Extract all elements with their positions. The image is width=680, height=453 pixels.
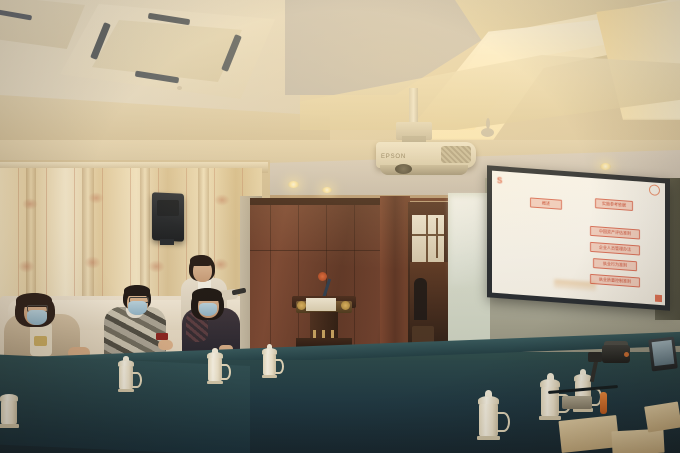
- teacup-base: [118, 389, 134, 392]
- ceiling-downlight-icon: [322, 187, 332, 193]
- podium-trim-ornament: [341, 301, 350, 310]
- slide-badge-icon: [649, 184, 660, 196]
- teacup-base: [539, 416, 561, 420]
- projector-lens-icon: [395, 164, 412, 174]
- curtain-motif: [88, 192, 104, 204]
- teacup-body: [1, 401, 17, 425]
- document-sheet: [558, 415, 619, 453]
- ceiling-sprinkler-stem: [486, 118, 490, 129]
- ceiling-sprinkler-icon: [481, 128, 494, 137]
- podium-name-card: [306, 298, 336, 311]
- teacup-handle: [275, 359, 284, 374]
- podium-trim-ornament: [297, 301, 306, 310]
- teacup-handle: [132, 372, 142, 388]
- projector-brand-label: EPSON: [381, 154, 427, 160]
- ac-sensor-dot: [177, 86, 182, 90]
- attendee-left-shirt-print: [34, 336, 47, 346]
- teacup-base: [207, 381, 223, 384]
- teacup-handle: [497, 412, 510, 432]
- field-monitor-screen[interactable]: [652, 340, 675, 366]
- attendee-left-face-mask: [27, 310, 47, 325]
- attendee-middle-phone-icon: [156, 333, 168, 340]
- teacup-knob: [580, 369, 586, 375]
- attendee-middle-face-mask: [128, 301, 147, 315]
- curtain-motif: [84, 256, 101, 269]
- projector-underside: [380, 165, 468, 175]
- teacup-knob: [212, 348, 218, 353]
- slide-logo-icon: S: [497, 176, 505, 186]
- curtain-motif: [18, 260, 35, 273]
- projector-mount-pole: [409, 88, 418, 126]
- attendee-right-hair-bangs: [192, 288, 222, 301]
- slide-box-title-left: 概述: [530, 197, 562, 209]
- teacup-base: [262, 375, 277, 378]
- attendee-middle-hand: [158, 340, 173, 350]
- curtain-motif: [22, 198, 38, 210]
- frosted-glass-highlight: [450, 196, 486, 286]
- slide-corner-mark-icon: [655, 295, 662, 303]
- wall-speaker-driver: [157, 200, 179, 216]
- teacup-body: [479, 404, 498, 437]
- ceiling-downlight-icon: [288, 181, 299, 188]
- doorway-frame: [405, 198, 453, 361]
- teacup-base: [0, 424, 19, 428]
- teacup-knob: [547, 373, 554, 380]
- teacup-knob: [123, 356, 129, 361]
- wall-speaker-bracket: [160, 239, 174, 245]
- equipment-case: [562, 396, 592, 409]
- document-sheet: [644, 402, 680, 433]
- curtain-motif: [214, 194, 230, 206]
- presenter-hair-front: [190, 255, 212, 266]
- slide-box-title-right: 实施参考依据: [595, 198, 633, 211]
- attendee-middle-hair-top: [124, 285, 150, 296]
- orange-marker-object: [600, 392, 607, 414]
- teacup-body: [119, 366, 133, 390]
- slide-box-item-4: 执业质量控制准则: [590, 274, 640, 288]
- projection-screen-surface[interactable]: S 概述 实施参考依据 中国资产评估准则 企业人员管理办法 执业行为准则 执业质…: [492, 171, 665, 306]
- teacup-handle: [221, 364, 231, 380]
- slide-box-item-1: 中国资产评估准则: [590, 226, 640, 240]
- ceiling-downlight-icon: [600, 163, 611, 170]
- slide-box-item-2: 企业人员管理办法: [590, 242, 640, 256]
- projector-vent-grille-icon: [441, 146, 471, 163]
- conference-room-photo: EPSON: [0, 0, 680, 453]
- teacup-base: [477, 436, 500, 440]
- tripod-head: [588, 352, 602, 362]
- document-sheet: [611, 429, 664, 453]
- slide-box-item-3: 执业行为准则: [593, 258, 637, 271]
- microphone-icon: [318, 272, 327, 281]
- camera-indicator-light: [624, 352, 629, 357]
- attendee-right-face-mask: [199, 303, 217, 316]
- curtain-motif: [148, 260, 165, 273]
- teacup-body: [208, 358, 222, 382]
- teacup-knob: [267, 344, 272, 349]
- teacup-knob: [485, 390, 492, 397]
